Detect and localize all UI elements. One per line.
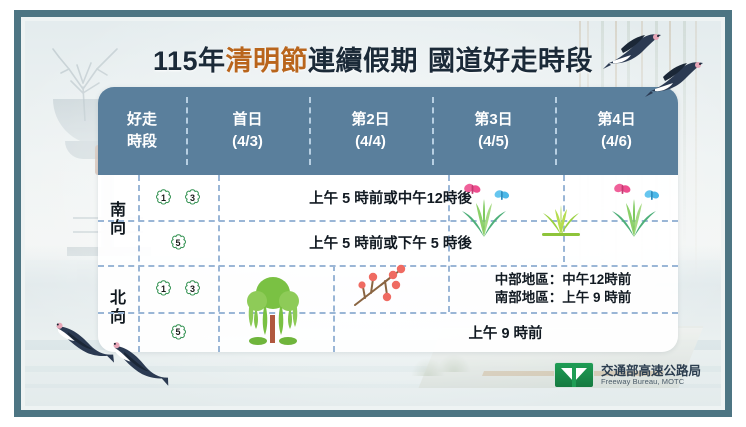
header-label-line1: 好走 <box>127 109 157 131</box>
row-3-time-value: 中部地區：中午12時前 南部地區：上午 9 時前 <box>448 265 678 312</box>
logo-name-cn: 交通部高速公路局 <box>601 364 701 378</box>
freeway-bureau-mark-icon <box>554 362 594 388</box>
table-body: 南 向 北 向 <box>98 175 678 352</box>
row-3-time-line2: 南部地區：上午 9 時前 <box>495 289 632 307</box>
row-1-direction-spacer <box>98 175 138 220</box>
butterfly-pink-icon <box>463 182 482 194</box>
header-corner-label: 好走 時段 <box>98 87 186 175</box>
freeway-shield-icon: 1 <box>154 279 173 298</box>
header-day-2-name: 第2日 <box>351 109 389 131</box>
title-suffix: 國道好走時段 <box>428 46 593 76</box>
header-day-1: 首日 (4/3) <box>186 87 309 175</box>
title-middle: 連續假期 <box>308 46 418 76</box>
header-day-3: 第3日 (4/5) <box>432 87 555 175</box>
table-row: 5 上午 9 時前 <box>98 312 678 352</box>
logo-name-en: Freeway Bureau, MOTC <box>601 378 701 387</box>
header-day-4: 第4日 (4/6) <box>555 87 678 175</box>
poster-frame: 115年清明節連續假期國道好走時段 好走 時段 首日 (4/3) <box>14 10 732 417</box>
row-2-road-shields: 5 <box>138 220 218 265</box>
title-highlight: 清明節 <box>226 46 309 76</box>
shield-number: 1 <box>154 188 173 207</box>
berry-branch-illustration <box>351 263 413 309</box>
row-1-road-shields: 1 3 <box>138 175 218 220</box>
shield-number: 5 <box>169 323 188 342</box>
row-3-road-shields: 1 3 <box>138 265 218 312</box>
header-day-3-name: 第3日 <box>474 109 512 131</box>
row-3-time-line1: 中部地區：中午12時前 <box>495 271 632 289</box>
title-prefix: 115年 <box>153 46 226 76</box>
header-day-2-date: (4/4) <box>355 131 386 153</box>
shield-number: 3 <box>183 279 202 298</box>
freeway-shield-icon: 1 <box>154 188 173 207</box>
butterfly-blue-icon <box>643 189 660 200</box>
frame-inner: 115年清明節連續假期國道好走時段 好走 時段 首日 (4/3) <box>25 21 721 406</box>
header-day-3-date: (4/5) <box>478 131 509 153</box>
schedule-table: 好走 時段 首日 (4/3) 第2日 (4/4) <box>98 87 678 352</box>
shield-number: 5 <box>169 233 188 252</box>
freeway-shield-icon: 3 <box>183 279 202 298</box>
header-day-2: 第2日 (4/4) <box>309 87 432 175</box>
header-day-1-name: 首日 <box>232 109 262 131</box>
poster-root: 115年清明節連續假期國道好走時段 好走 時段 首日 (4/3) <box>0 0 746 427</box>
header-day-1-date: (4/3) <box>232 131 263 153</box>
shield-number: 3 <box>183 188 202 207</box>
header-day-4-name: 第4日 <box>597 109 635 131</box>
freeway-shield-icon: 5 <box>169 233 188 252</box>
freeway-shield-icon: 5 <box>169 323 188 342</box>
shield-number: 1 <box>154 279 173 298</box>
header-label-line2: 時段 <box>127 131 157 153</box>
freeway-shield-icon: 3 <box>183 188 202 207</box>
swallow-icon <box>645 57 709 99</box>
table-header-row: 好走 時段 首日 (4/3) 第2日 (4/4) <box>98 87 678 175</box>
agency-logo: 交通部高速公路局 Freeway Bureau, MOTC <box>554 362 701 388</box>
butterfly-pink-icon <box>613 182 632 194</box>
row-4-time-value: 上午 9 時前 <box>333 312 678 352</box>
header-day-4-date: (4/6) <box>601 131 632 153</box>
row-2-direction-spacer <box>98 220 138 265</box>
grass-and-butterflies-illustration <box>450 181 672 239</box>
row-3-direction-spacer <box>98 265 138 312</box>
butterfly-blue-icon <box>493 189 510 200</box>
willow-tree-illustration <box>236 263 310 345</box>
